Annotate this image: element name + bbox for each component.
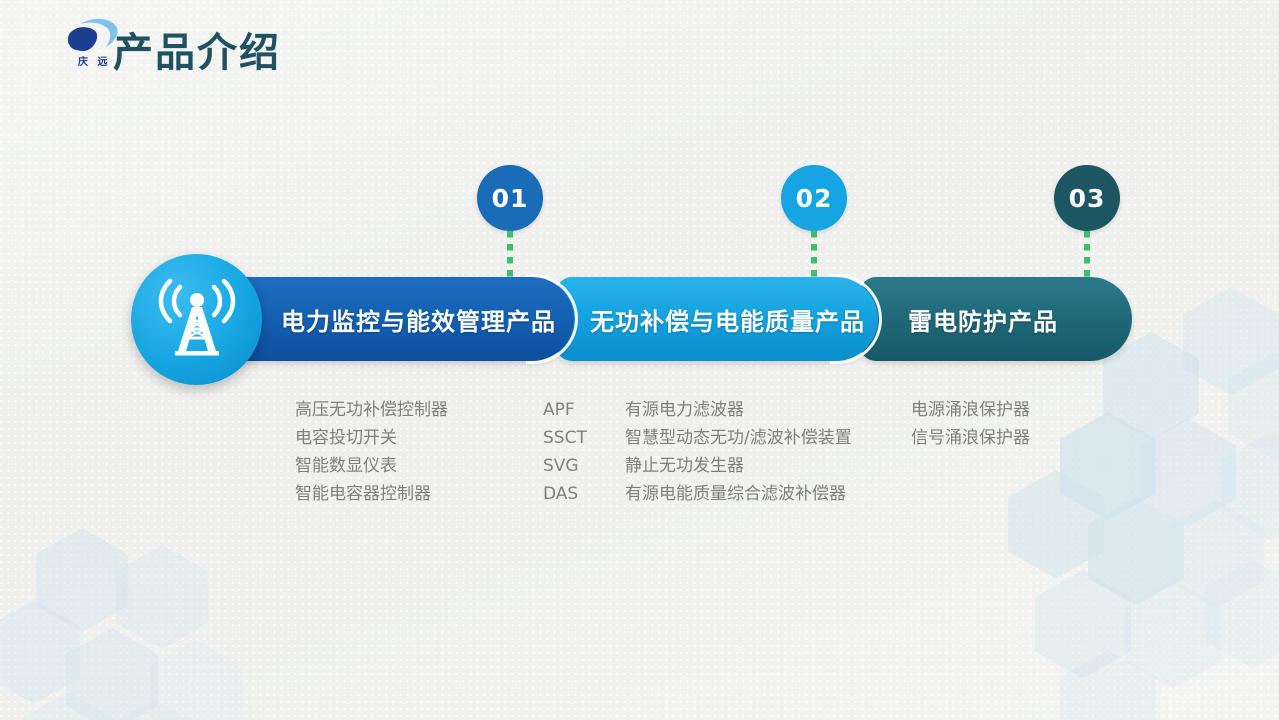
broadcast-tower-icon: [156, 277, 238, 362]
step-marker-02-bubble: 02: [781, 165, 847, 231]
product-list-item: SSCT: [543, 426, 587, 454]
category-segment-reactive-compensation[interactable]: 无功补偿与电能质量产品: [556, 277, 878, 361]
step-marker-03-bubble: 03: [1054, 165, 1120, 231]
hexagon-shape: [1205, 560, 1279, 668]
product-list-item: APF: [543, 398, 587, 426]
product-list-item: 电源涌浪保护器: [911, 398, 1030, 426]
product-list-item: 有源电力滤波器: [625, 398, 852, 426]
hexagon-shape: [1060, 412, 1156, 520]
step-marker-01[interactable]: 01: [477, 165, 543, 231]
product-list-item: 信号涌浪保护器: [911, 426, 1030, 454]
broadcast-tower-icon-circle: [131, 254, 262, 385]
step-marker-01-bubble: 01: [477, 165, 543, 231]
hexagon-shape: [1222, 432, 1279, 540]
product-list-item: 高压无功补偿控制器: [295, 398, 448, 426]
product-list-item: 智慧型动态无功/滤波补偿装置: [625, 426, 852, 454]
product-list-item: 电容投切开关: [295, 426, 448, 454]
hexagon-shape: [1125, 580, 1221, 688]
product-list-item: 静止无功发生器: [625, 454, 852, 482]
product-list-column-3: 有源电力滤波器智慧型动态无功/滤波补偿装置静止无功发生器有源电能质量综合滤波补偿…: [625, 398, 852, 510]
hexagon-shape: [22, 692, 114, 720]
slide-header: 庆 远 产品介绍: [0, 0, 1279, 95]
category-segment-lightning-protection-label: 雷电防护产品: [908, 302, 1058, 337]
hexagon-shape: [36, 528, 128, 632]
hexagon-shape: [116, 545, 208, 649]
hexagon-shape: [1168, 500, 1264, 608]
svg-text:庆 远: 庆 远: [77, 55, 110, 68]
page-title: 产品介绍: [113, 20, 281, 78]
step-marker-03[interactable]: 03: [1054, 165, 1120, 231]
product-list-column-1: 高压无功补偿控制器电容投切开关智能数显仪表智能电容器控制器: [295, 398, 448, 510]
hexagon-shape: [1035, 570, 1131, 678]
hexagon-shape: [108, 700, 200, 720]
hexagon-shape: [1140, 418, 1236, 526]
hexagon-shape: [1228, 352, 1279, 460]
hexagon-shape: [150, 640, 242, 720]
product-list-item: 智能数显仪表: [295, 454, 448, 482]
hexagon-shape: [1060, 650, 1156, 720]
product-list-item: SVG: [543, 454, 587, 482]
hexagon-shape: [1008, 470, 1104, 578]
product-list-item: 有源电能质量综合滤波补偿器: [625, 482, 852, 510]
category-segment-lightning-protection[interactable]: 雷电防护产品: [860, 277, 1132, 361]
category-segment-reactive-compensation-label: 无功补偿与电能质量产品: [590, 302, 865, 337]
product-list-item: 智能电容器控制器: [295, 482, 448, 510]
product-list-column-2: APFSSCTSVGDAS: [543, 398, 587, 510]
product-list-item: DAS: [543, 482, 587, 510]
product-list-column-4: 电源涌浪保护器信号涌浪保护器: [911, 398, 1030, 454]
category-segment-power-monitoring-label: 电力监控与能效管理产品: [281, 302, 556, 337]
hexagon-shape: [0, 600, 80, 704]
step-marker-02[interactable]: 02: [781, 165, 847, 231]
hexagon-shape: [66, 628, 158, 720]
hexagon-shape: [1088, 497, 1184, 605]
